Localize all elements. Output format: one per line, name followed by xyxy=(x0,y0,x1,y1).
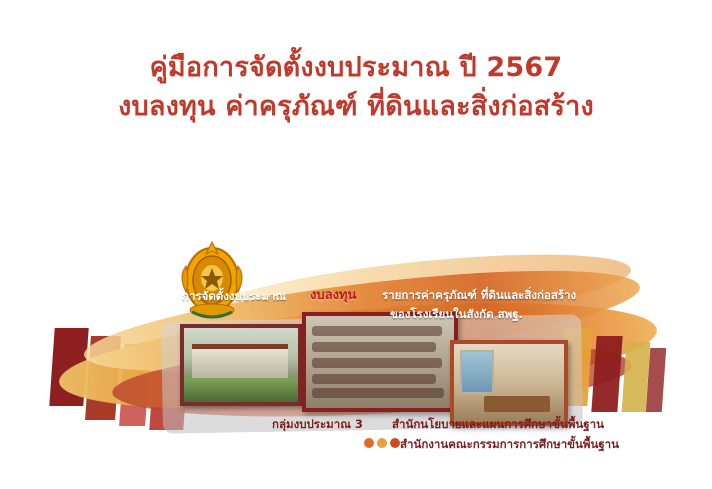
cover-banner: การจัดตั้งงบประมาณ งบลงทุน รายการค่าครุภ… xyxy=(52,232,664,464)
banner-text-highlight: งบลงทุน xyxy=(310,284,356,305)
obec-emblem xyxy=(176,236,248,322)
banner-text-right-2: ของโรงเรียนในสังกัด สพฐ. xyxy=(390,306,523,324)
title-line-2: งบลงทุน ค่าครุภัณฑ์ ที่ดินและสิ่งก่อสร้า… xyxy=(0,87,712,126)
computer-lab-photo xyxy=(302,312,458,412)
banner-block-8 xyxy=(646,348,666,412)
title-line-1: คู่มือการจัดตั้งงบประมาณ ปี 2567 xyxy=(0,48,712,87)
school-building-photo xyxy=(180,324,302,406)
banner-text-right: รายการค่าครุภัณฑ์ ที่ดินและสิ่งก่อสร้าง xyxy=(382,287,576,305)
banner-dots-icon xyxy=(364,438,400,448)
banner-footer-mid: สำนักนโยบายและแผนการศึกษาขั้นพื้นฐาน xyxy=(392,416,604,434)
document-page: คู่มือการจัดตั้งงบประมาณ ปี 2567 งบลงทุน… xyxy=(0,0,712,489)
banner-footer-left: กลุ่มงบประมาณ 3 xyxy=(272,416,363,434)
banner-footer-bottom: สำนักงานคณะกรรมการการศึกษาขั้นพื้นฐาน xyxy=(400,436,619,454)
office-room-photo xyxy=(450,340,568,426)
banner-text-left: การจัดตั้งงบประมาณ xyxy=(182,288,286,306)
page-title: คู่มือการจัดตั้งงบประมาณ ปี 2567 งบลงทุน… xyxy=(0,48,712,126)
banner-block-6 xyxy=(591,336,622,412)
